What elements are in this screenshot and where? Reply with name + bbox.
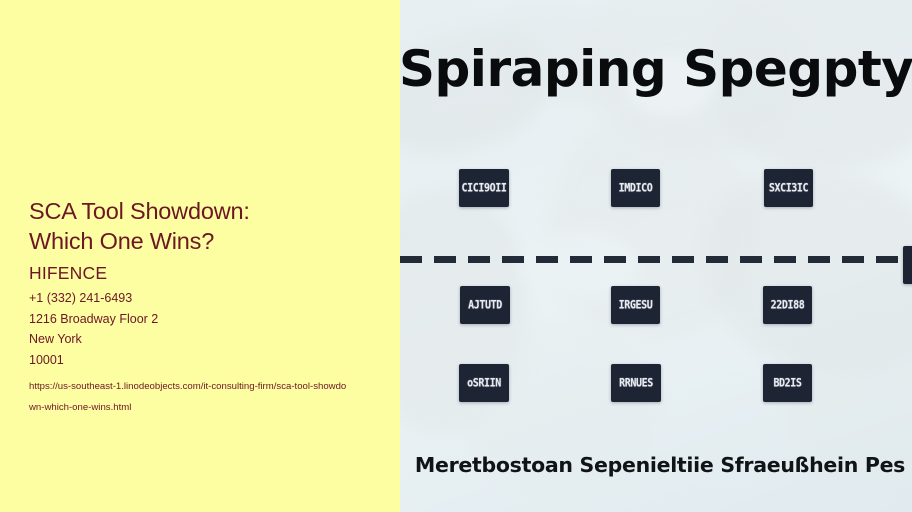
diagram-node[interactable]: oSRIIN [459, 364, 509, 402]
diagram-node-offscreen[interactable] [903, 246, 912, 284]
article-info-block: SCA Tool Showdown: Which One Wins? HIFEN… [29, 196, 359, 418]
company-street-address: 1216 Broadway Floor 2 [29, 309, 359, 330]
diagram-node[interactable]: 22DI88 [763, 286, 812, 324]
diagram-node[interactable]: CICI9OII [459, 169, 509, 207]
company-name: HIFENCE [29, 262, 359, 284]
diagram-node-label: CICI9OII [462, 182, 507, 195]
company-zip: 10001 [29, 350, 359, 371]
company-phone: +1 (332) 241-6493 [29, 288, 359, 309]
diagram-node-label: BD2IS [773, 377, 801, 390]
article-url[interactable]: https://us-southeast-1.linodeobjects.com… [29, 377, 349, 418]
illustration-caption: Meretbostoan Sepenieltiie Sfraeußhein Pe… [400, 420, 912, 512]
diagram-node[interactable]: SXCI3IC [764, 169, 813, 207]
diagram-node-label: AJTUTD [468, 299, 502, 312]
dashed-divider-line [400, 256, 905, 263]
diagram-node-label: SXCI3IC [769, 182, 808, 195]
diagram-node[interactable]: AJTUTD [460, 286, 510, 324]
left-info-panel: SCA Tool Showdown: Which One Wins? HIFEN… [0, 0, 400, 512]
diagram-node-label: IRGESU [619, 299, 653, 312]
diagram-node[interactable]: RRNUES [611, 364, 661, 402]
diagram-node-label: IMDICO [619, 182, 653, 195]
company-city: New York [29, 329, 359, 350]
diagram-node-label: 22DI88 [771, 299, 805, 312]
caption-line-1: Meretbostoan Sepenieltiie Sfraeußhein Pe… [404, 450, 912, 480]
slide-canvas: SCA Tool Showdown: Which One Wins? HIFEN… [0, 0, 912, 512]
diagram-node[interactable]: IMDICO [611, 169, 660, 207]
diagram-node[interactable]: BD2IS [763, 364, 812, 402]
right-illustration-panel: Spiraping Spegpty CICI9OII IMDICO SXCI3I… [400, 0, 912, 512]
diagram-node-label: RRNUES [619, 377, 653, 390]
diagram-node[interactable]: IRGESU [611, 286, 660, 324]
page-title: SCA Tool Showdown: Which One Wins? [29, 196, 359, 256]
diagram-node-label: oSRIIN [467, 377, 501, 390]
